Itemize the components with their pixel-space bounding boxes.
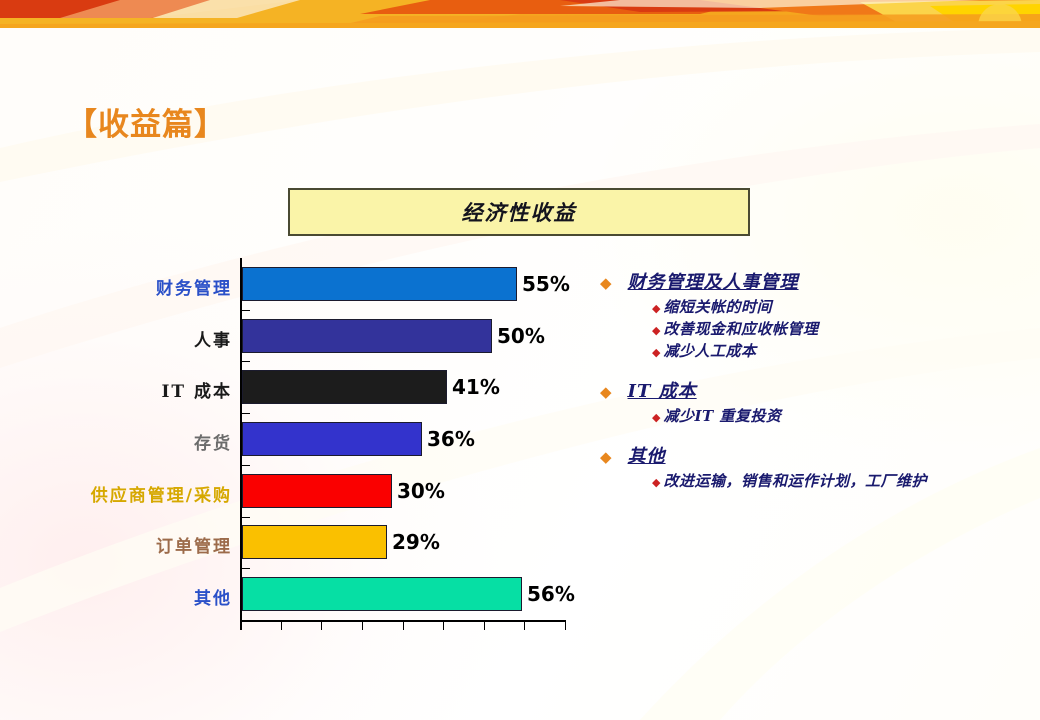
diamond-sub-bullet-icon: ◆: [652, 477, 660, 488]
y-axis-tick: [242, 413, 250, 414]
bar-value-label: 41%: [452, 375, 500, 399]
benefit-group: ◆财务管理及人事管理◆缩短关帐的时间◆改善现金和应收帐管理◆减少人工成本: [600, 268, 1020, 361]
benefits-list: ◆财务管理及人事管理◆缩短关帐的时间◆改善现金和应收帐管理◆减少人工成本◆IT …: [600, 268, 1020, 507]
category-label: 存货: [194, 429, 232, 454]
bar-row: 56%: [242, 577, 567, 611]
benefit-item-text: 改进运输，销售和运作计划，工厂维护: [663, 470, 927, 491]
slide-canvas: 【收益篇】 经济性收益 55%50%41%36%30%29%56% 财务管理人事…: [0, 0, 1040, 720]
y-axis-tick: [242, 517, 250, 518]
category-label: IT 成本: [161, 377, 232, 402]
benefit-item-text: 缩短关帐的时间: [663, 296, 772, 317]
category-label: 供应商管理/采购: [91, 481, 232, 506]
chart-title-box: 经济性收益: [288, 188, 750, 236]
bar: [242, 577, 522, 611]
bar: [242, 525, 387, 559]
diamond-sub-bullet-icon: ◆: [652, 347, 660, 358]
benefit-group-heading: ◆IT 成本: [600, 377, 1020, 403]
bar-row: 55%: [242, 267, 567, 301]
x-axis-tick: [281, 620, 282, 630]
bar-value-label: 50%: [497, 324, 545, 348]
bar: [242, 474, 392, 508]
benefit-item: ◆减少人工成本: [652, 340, 1020, 361]
bar-row: 41%: [242, 370, 567, 404]
bar: [242, 370, 447, 404]
bar-value-label: 55%: [522, 272, 570, 296]
bar: [242, 319, 492, 353]
x-axis-tick: [443, 620, 444, 630]
diamond-bullet-icon: ◆: [600, 450, 612, 465]
bar-row: 50%: [242, 319, 567, 353]
category-label: 其他: [194, 584, 232, 609]
benefit-item-text: 减少IT 重复投资: [663, 405, 781, 426]
benefit-group: ◆其他◆改进运输，销售和运作计划，工厂维护: [600, 442, 1020, 491]
benefit-item: ◆减少IT 重复投资: [652, 405, 1020, 426]
benefit-heading-text: 财务管理及人事管理: [628, 268, 799, 294]
bar: [242, 267, 517, 301]
benefit-item: ◆缩短关帐的时间: [652, 296, 1020, 317]
diamond-sub-bullet-icon: ◆: [652, 325, 660, 336]
category-label: 订单管理: [156, 532, 232, 557]
bar: [242, 422, 422, 456]
x-axis-tick: [403, 620, 404, 630]
x-axis-tick: [565, 620, 566, 630]
diamond-sub-bullet-icon: ◆: [652, 412, 660, 423]
category-label: 财务管理: [156, 274, 232, 299]
diamond-bullet-icon: ◆: [600, 385, 612, 400]
decorative-swoosh-banner: [0, 0, 1040, 28]
y-axis-tick: [242, 568, 250, 569]
bar-value-label: 30%: [397, 479, 445, 503]
benefit-group: ◆IT 成本◆减少IT 重复投资: [600, 377, 1020, 426]
bar-chart: 55%50%41%36%30%29%56% 财务管理人事IT 成本存货供应商管理…: [40, 258, 600, 633]
x-axis-tick: [321, 620, 322, 630]
benefit-item-text: 减少人工成本: [663, 340, 756, 361]
benefit-item: ◆改善现金和应收帐管理: [652, 318, 1020, 339]
chart-title: 经济性收益: [462, 197, 577, 227]
x-axis-tick: [484, 620, 485, 630]
benefit-heading-text: IT 成本: [628, 377, 697, 403]
benefit-item: ◆改进运输，销售和运作计划，工厂维护: [652, 470, 1020, 491]
benefit-group-heading: ◆财务管理及人事管理: [600, 268, 1020, 294]
diamond-sub-bullet-icon: ◆: [652, 303, 660, 314]
plot-area: 55%50%41%36%30%29%56%: [240, 258, 565, 630]
bar-value-label: 29%: [392, 530, 440, 554]
y-axis-tick: [242, 361, 250, 362]
bar-row: 29%: [242, 525, 567, 559]
x-axis-tick: [524, 620, 525, 630]
benefit-item-text: 改善现金和应收帐管理: [663, 318, 818, 339]
category-label: 人事: [194, 326, 232, 351]
benefit-heading-text: 其他: [628, 442, 666, 468]
page-title: 【收益篇】: [66, 99, 226, 144]
y-axis-tick: [242, 310, 250, 311]
benefit-group-heading: ◆其他: [600, 442, 1020, 468]
x-axis-tick: [362, 620, 363, 630]
bar-row: 30%: [242, 474, 567, 508]
y-axis-tick: [242, 465, 250, 466]
bar-row: 36%: [242, 422, 567, 456]
diamond-bullet-icon: ◆: [600, 276, 612, 291]
bar-value-label: 36%: [427, 427, 475, 451]
bar-value-label: 56%: [527, 582, 575, 606]
